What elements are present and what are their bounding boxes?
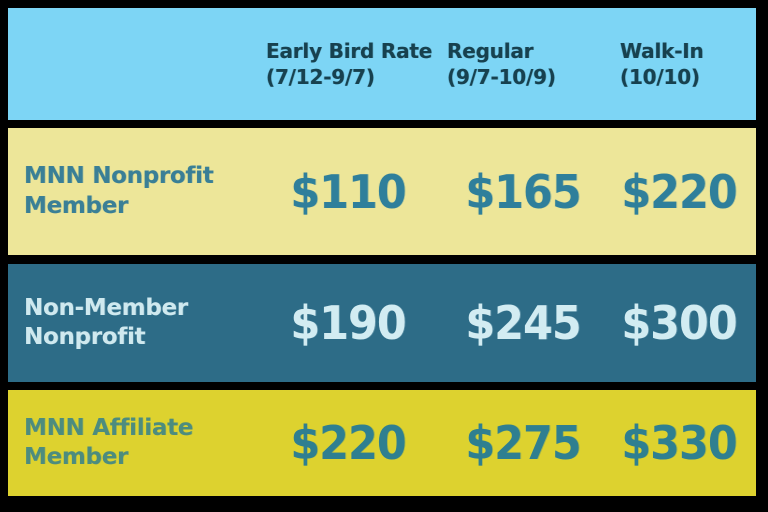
price-value: $245 [466, 300, 581, 346]
row1-label-line2: Member [24, 192, 256, 221]
header-cell-regular: Regular (9/7-10/9) [441, 38, 606, 91]
cell-row1-regular: $165 [441, 169, 606, 215]
price-value: $190 [291, 300, 406, 346]
header-walk-in-name: Walk-In [620, 39, 704, 63]
price-value: $165 [466, 169, 581, 215]
price-value: $110 [291, 169, 406, 215]
row-separator [8, 382, 756, 390]
header-cell-walk-in: Walk-In (10/10) [606, 38, 756, 91]
cell-row3-early-bird: $220 [256, 420, 441, 466]
table-row: MNN Affiliate Member $220 $275 $330 [8, 390, 756, 496]
table-header-row: Early Bird Rate (7/12-9/7) Regular (9/7-… [8, 8, 756, 120]
price-value: $330 [621, 420, 736, 466]
row3-label-line1: MNN Affiliate [24, 415, 193, 441]
table-row: Non-Member Nonprofit $190 $245 $300 [8, 264, 756, 382]
row-label-mnn-nonprofit-member: MNN Nonprofit Member [8, 162, 256, 221]
cell-row2-early-bird: $190 [256, 300, 441, 346]
row-label-mnn-affiliate-member: MNN Affiliate Member [8, 414, 256, 473]
row1-label-line1: MNN Nonprofit [24, 163, 213, 189]
cell-row1-early-bird: $110 [256, 169, 441, 215]
row2-label-line1: Non-Member [24, 295, 188, 321]
cell-row1-walk-in: $220 [606, 169, 756, 215]
row-label-non-member-nonprofit: Non-Member Nonprofit [8, 294, 256, 353]
header-cell-early-bird: Early Bird Rate (7/12-9/7) [256, 38, 441, 91]
row3-label-line2: Member [24, 443, 256, 472]
cell-row2-walk-in: $300 [606, 300, 756, 346]
cell-row3-regular: $275 [441, 420, 606, 466]
row-separator [8, 255, 756, 264]
header-walk-in-dates: (10/10) [620, 64, 752, 90]
price-value: $275 [466, 420, 581, 466]
table-row: MNN Nonprofit Member $110 $165 $220 [8, 128, 756, 255]
row2-label-line2: Nonprofit [24, 323, 256, 352]
pricing-table: Early Bird Rate (7/12-9/7) Regular (9/7-… [0, 0, 768, 512]
header-regular-dates: (9/7-10/9) [447, 64, 606, 90]
header-early-bird-dates: (7/12-9/7) [266, 64, 441, 90]
header-early-bird-name: Early Bird Rate [266, 39, 432, 63]
row-separator [8, 120, 756, 128]
price-value: $300 [621, 300, 736, 346]
price-value: $220 [291, 420, 406, 466]
price-value: $220 [621, 169, 736, 215]
cell-row2-regular: $245 [441, 300, 606, 346]
cell-row3-walk-in: $330 [606, 420, 756, 466]
header-regular-name: Regular [447, 39, 533, 63]
